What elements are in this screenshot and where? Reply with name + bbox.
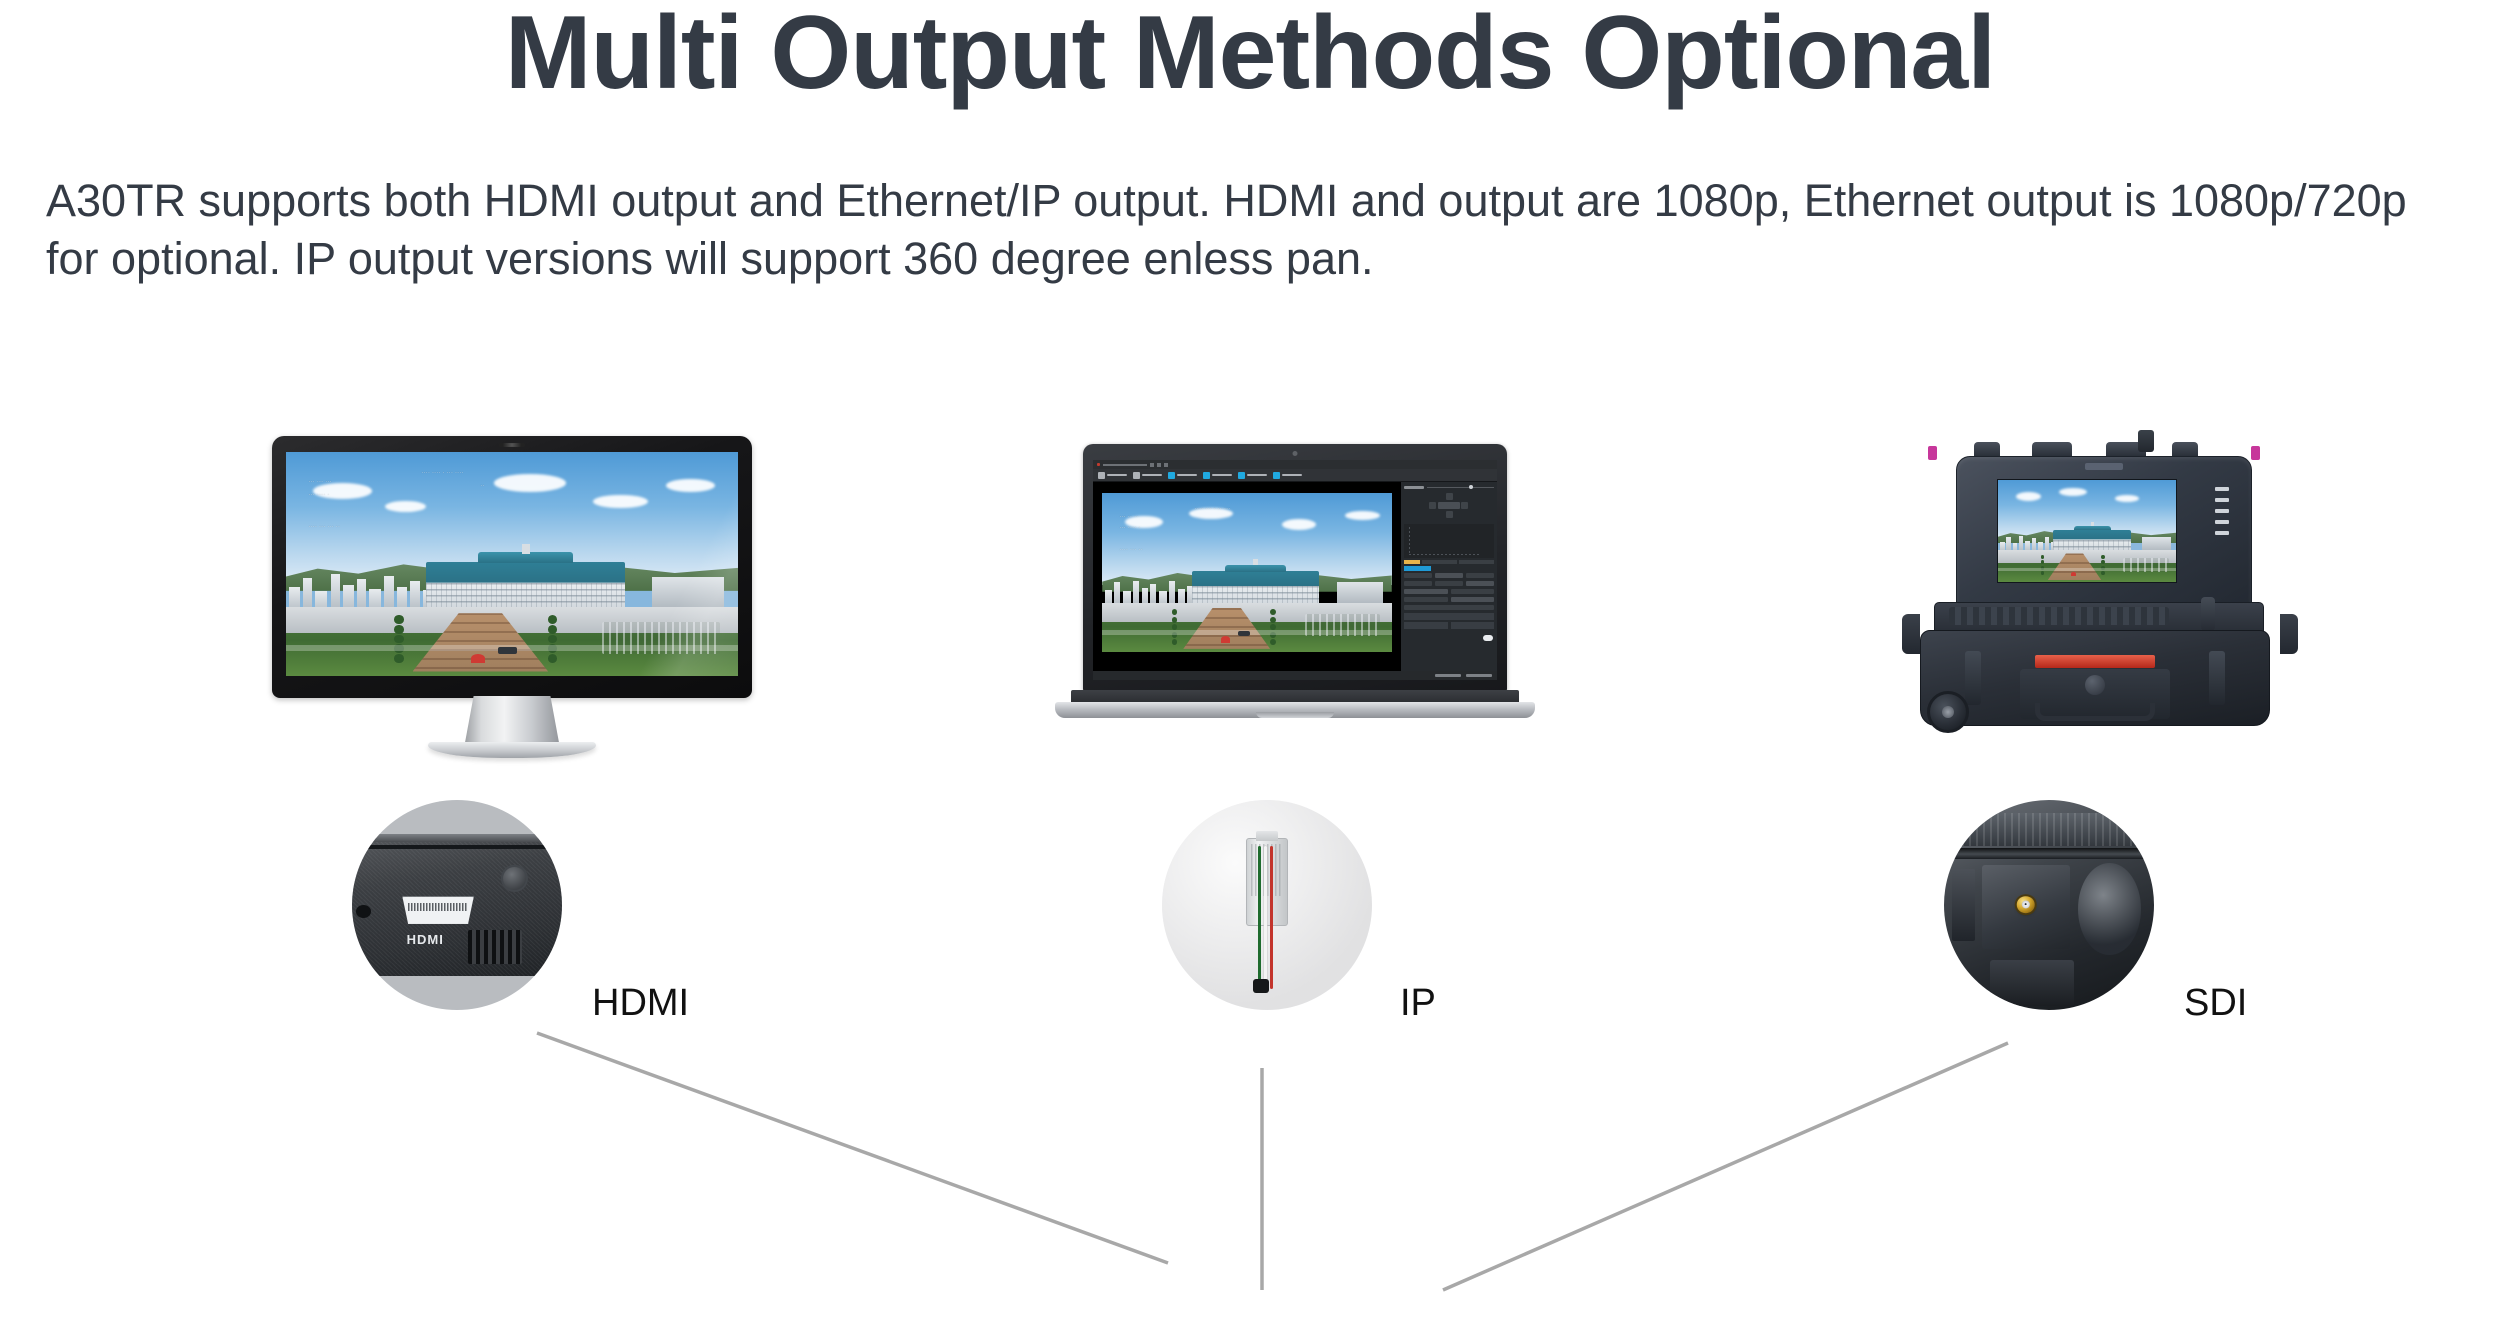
speed-slider[interactable]: [1427, 487, 1494, 489]
parked-car: [498, 647, 516, 654]
case-button[interactable]: [2215, 520, 2229, 524]
tree-row: [394, 613, 403, 667]
case-pressure-valve[interactable]: [2085, 675, 2105, 695]
left-post: [1952, 869, 1975, 940]
connector-label-ip: IP: [1400, 982, 1436, 1025]
right-building: [652, 577, 724, 608]
photograph-button[interactable]: [1404, 613, 1494, 620]
panel-tab-strip[interactable]: [1404, 560, 1494, 564]
ip-connector-photo: [1162, 800, 1372, 1010]
wire-red: [1270, 846, 1273, 989]
monitor-camera-icon: [499, 443, 525, 447]
case-hinges: [1950, 442, 2258, 456]
window-controls[interactable]: [1150, 463, 1168, 467]
laptop-camera-icon: [1293, 451, 1298, 456]
ptz-down-button[interactable]: [1446, 511, 1453, 518]
monitor-screen: ··· ··· ··· ··· ···· · ···· ··· ··· ·· ·…: [286, 452, 738, 676]
active-tab-indicator: [1404, 566, 1431, 571]
desktop-monitor: ··· ··· ··· ··· ···· · ···· ··· ··· ·· ·…: [272, 436, 752, 746]
software-body: ··· ·· ·· ··· ···· · ···· ··· ·· ···· ··…: [1093, 482, 1497, 671]
case-side-rail: [1902, 614, 1920, 654]
software-statusbar: [1093, 671, 1497, 680]
ptz-left-button[interactable]: [1429, 502, 1436, 509]
lower-housing: [1990, 960, 2074, 1006]
preset-grid[interactable]: [1404, 524, 1494, 558]
ptz-up-button[interactable]: [1446, 493, 1453, 500]
sdi-coax-connector-icon: [2017, 896, 2036, 914]
case-wheel: [1927, 691, 1969, 733]
vent-grille: [468, 930, 523, 964]
case-clip: [2251, 446, 2260, 460]
city-scene: ··· ·· ·· ··· ···· · ···· ··· ·· ···· ··…: [1102, 493, 1392, 652]
zoom-control-row[interactable]: [1404, 581, 1494, 586]
city-scene: ··· ··· ··· ··· ···· · ···· ··· ··· ·· ·…: [286, 452, 738, 676]
case-screen-buttons[interactable]: [2215, 487, 2229, 535]
line-sdi: [1443, 1043, 2008, 1290]
case-foam-insert: [1949, 607, 2169, 625]
scale-control-row[interactable]: [1404, 589, 1494, 594]
cable-sheath: [1253, 979, 1269, 993]
focus-knob[interactable]: [1483, 635, 1493, 641]
window-title: [1103, 464, 1147, 466]
speed-label: [1404, 486, 1424, 489]
toolbar-item-video-record[interactable]: [1203, 472, 1232, 479]
laptop-lid: ··· ·· ·· ··· ···· · ···· ··· ·· ···· ··…: [1083, 444, 1507, 692]
case-red-stripe: [2035, 655, 2155, 668]
page-title: Multi Output Methods Optional: [0, 0, 2500, 110]
tab-split-screen[interactable]: [1404, 560, 1420, 564]
connector-label-hdmi: HDMI: [592, 982, 689, 1025]
side-hole: [356, 905, 371, 918]
manual-focus-row[interactable]: [1404, 605, 1494, 610]
tree-row: [548, 613, 557, 667]
software-toolbar[interactable]: [1093, 469, 1497, 482]
start-record-button[interactable]: [1404, 622, 1448, 629]
case-button[interactable]: [2215, 498, 2229, 502]
camera-control-panel[interactable]: [1401, 482, 1497, 671]
toolbar-item-local-record[interactable]: [1273, 472, 1302, 479]
ptz-home-button[interactable]: [1438, 502, 1460, 509]
case-joystick[interactable]: [2201, 597, 2215, 631]
case-latch-right[interactable]: [2209, 651, 2225, 705]
app-logo-icon: [1097, 463, 1100, 466]
sdi-connector-photo: [1944, 800, 2154, 1010]
rugged-case-monitor: [1900, 424, 2300, 744]
case-side-rail: [2280, 614, 2298, 654]
ptz-right-button[interactable]: [1461, 502, 1468, 509]
control-software-window: ··· ·· ·· ··· ···· · ···· ··· ·· ···· ··…: [1093, 460, 1497, 680]
connector-label-sdi: SDI: [2184, 982, 2247, 1025]
toolbar-item-settings[interactable]: [1133, 472, 1162, 479]
case-carry-handle[interactable]: [2035, 703, 2155, 721]
software-titlebar: [1093, 460, 1497, 469]
image-control-row[interactable]: [1404, 573, 1494, 578]
case-screen: [1997, 479, 2177, 583]
rj45-connector-icon: [1246, 838, 1288, 926]
monitor-stand-base: [428, 742, 596, 758]
wire-green: [1258, 846, 1261, 985]
case-body: [1920, 630, 2270, 726]
tab-tilt[interactable]: [1459, 560, 1494, 564]
main-building: [426, 562, 625, 614]
wire-white: [1264, 846, 1267, 989]
status-stream-info: [1435, 674, 1461, 677]
hdmi-port-photo: HDMI: [352, 800, 562, 1010]
micro-hdmi-port-icon: [402, 897, 473, 924]
stop-record-button[interactable]: [1451, 622, 1495, 629]
laptop-trackpad-notch: [1256, 712, 1334, 718]
city-scene: [1998, 480, 2176, 582]
cloud: [593, 495, 647, 508]
focus-control-row[interactable]: [1404, 597, 1494, 602]
status-connection: [1466, 674, 1492, 677]
case-button[interactable]: [2215, 509, 2229, 513]
laptop: ··· ·· ·· ··· ···· · ···· ··· ·· ···· ··…: [1055, 444, 1535, 734]
case-lid-latch: [2085, 463, 2123, 470]
laptop-screen: ··· ·· ·· ··· ···· · ···· ··· ·· ···· ··…: [1093, 460, 1497, 680]
case-clip: [1928, 446, 1937, 460]
tab-pan[interactable]: [1422, 560, 1457, 564]
case-button[interactable]: [2215, 531, 2229, 535]
connector-block: [1982, 865, 2070, 949]
monitor-stand-neck: [464, 696, 560, 748]
slide-root: Multi Output Methods Optional A30TR supp…: [0, 0, 2500, 1322]
toolbar-item-local-capture[interactable]: [1238, 472, 1267, 479]
speed-slider-row[interactable]: [1404, 486, 1494, 489]
toolbar-item-monitor[interactable]: [1098, 472, 1127, 479]
line-hdmi: [537, 1033, 1168, 1263]
ptz-direction-pad[interactable]: [1404, 492, 1494, 522]
case-latch-left[interactable]: [1965, 651, 1981, 705]
toolbar-item-video-capture[interactable]: [1168, 472, 1197, 479]
red-umbrella: [471, 654, 485, 663]
case-lid: [1956, 456, 2252, 608]
video-preview-panel: ··· ·· ·· ··· ···· · ···· ··· ·· ···· ··…: [1093, 482, 1401, 671]
record-buttons[interactable]: [1404, 622, 1494, 629]
case-button[interactable]: [2215, 487, 2229, 491]
hdmi-port-marking: HDMI: [407, 932, 444, 947]
monitor-bezel: ··· ··· ··· ··· ···· · ···· ··· ··· ·· ·…: [272, 436, 752, 698]
page-description: A30TR supports both HDMI output and Ethe…: [46, 172, 2456, 287]
case-antenna: [2138, 430, 2154, 452]
